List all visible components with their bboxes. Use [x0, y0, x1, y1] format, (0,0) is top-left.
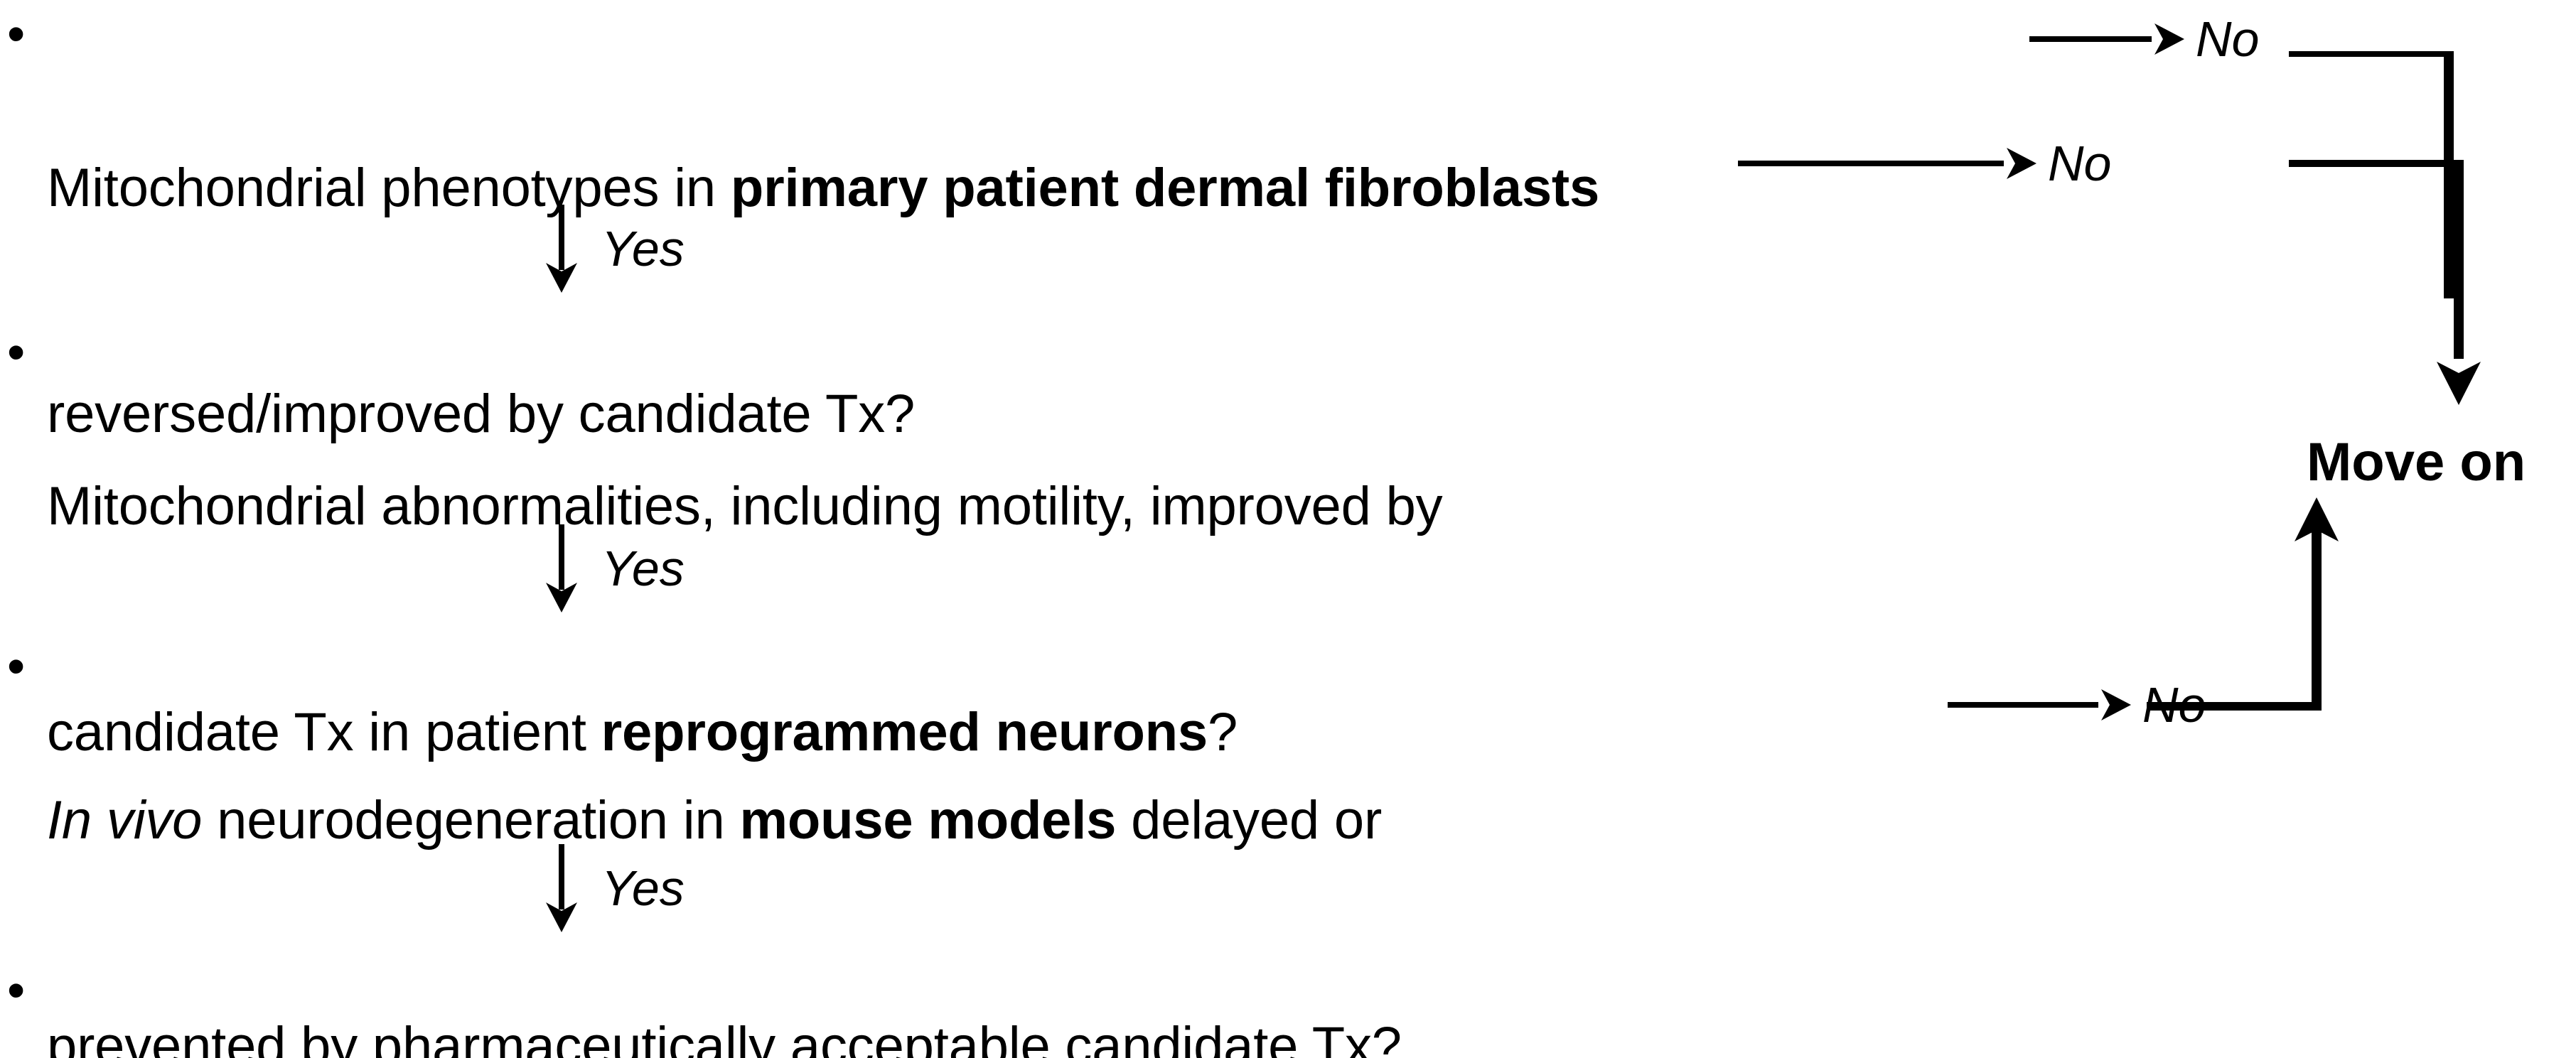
- yes-branch-2: Yes: [540, 524, 685, 612]
- connector-no3-to-moveon: [2147, 497, 2360, 711]
- yes-branch-1: Yes: [540, 205, 685, 293]
- yes-branch-3: Yes: [540, 844, 685, 932]
- move-on-label: Move on: [2307, 432, 2526, 493]
- no-label-1: No: [2196, 14, 2259, 64]
- bullet-line-1: In vivo neurodegeneration in mouse model…: [47, 783, 1402, 858]
- diagram-canvas: • Mitochondrial phenotypes in primary pa…: [0, 0, 2576, 1058]
- bullet-text-fda: Evaluation for FDA-enabling studies: [47, 956, 903, 1058]
- arrow-down-icon: [540, 205, 583, 293]
- yes-label-2: Yes: [601, 544, 685, 593]
- bullet-marker-icon: •: [7, 956, 47, 1025]
- no-branch-1: No: [2029, 13, 2270, 65]
- yes-label-3: Yes: [601, 863, 685, 913]
- bullet-line-1: Mitochondrial phenotypes in primary pati…: [47, 151, 1599, 226]
- no-branch-2: No: [1738, 137, 2122, 190]
- bullet-marker-icon: •: [7, 632, 47, 701]
- bullet-line-1: Mitochondrial abnormalities, including m…: [47, 469, 1442, 544]
- text-segment-bold: mouse models: [739, 790, 1116, 851]
- text-segment-bold: primary patient dermal fibroblasts: [731, 158, 1599, 218]
- arrow-down-icon: [540, 844, 583, 932]
- arrow-right-icon: [1738, 137, 2036, 190]
- arrow-right-icon: [1948, 679, 2131, 731]
- text-segment-italic: In vivo: [47, 790, 202, 851]
- yes-label-1: Yes: [601, 224, 685, 274]
- bullet-item-fda: • Evaluation for FDA-enabling studies: [7, 956, 1798, 1058]
- no-label-2: No: [2048, 139, 2111, 188]
- text-segment: neurodegeneration in: [202, 790, 739, 851]
- bullet-marker-icon: •: [7, 318, 47, 387]
- arrow-right-icon: [2029, 13, 2184, 65]
- connector-no2-to-moveon: [2289, 139, 2474, 405]
- bullet-marker-icon: •: [7, 0, 47, 68]
- arrow-down-icon: [540, 524, 583, 612]
- text-segment: delayed or: [1116, 790, 1382, 851]
